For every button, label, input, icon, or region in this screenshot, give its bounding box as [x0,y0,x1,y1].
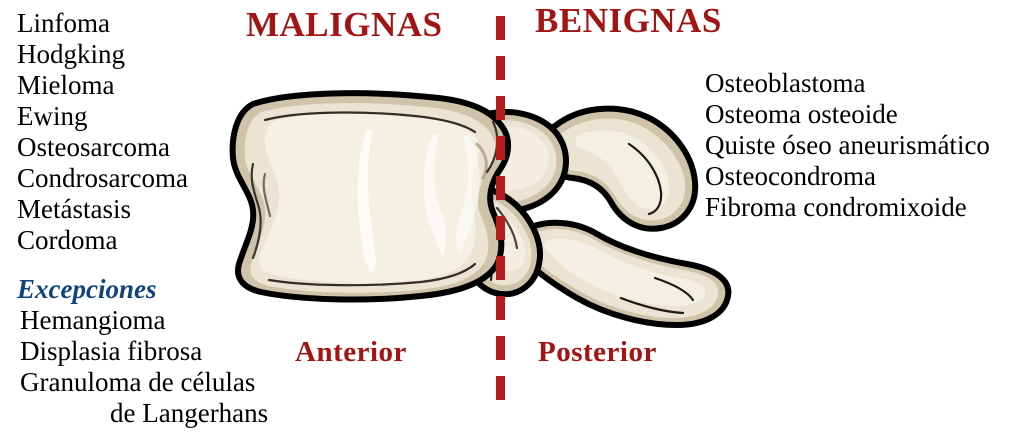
list-item: Granuloma de células [20,367,268,398]
label-posterior: Posterior [538,336,657,369]
list-item: Osteoma osteoide [705,99,990,130]
spinous-process [521,223,728,325]
benign-tumor-list: Osteoblastoma Osteoma osteoide Quiste ós… [705,68,990,223]
list-item: Osteocondroma [705,161,990,192]
list-item: Quiste óseo aneurismático [705,130,990,161]
list-item: Osteoblastoma [705,68,990,99]
dashed-separator-line [496,16,505,402]
exceptions-heading: Excepciones [17,274,156,305]
heading-malignas: MALIGNAS [246,5,443,45]
list-item: Displasia fibrosa [20,336,268,367]
list-item: Ewing [17,101,188,132]
label-anterior: Anterior [295,336,407,369]
list-item: Linfoma [17,8,188,39]
list-item: Cordoma [17,225,188,256]
figure-canvas: MALIGNAS BENIGNAS Anterior Posterior Lin… [0,0,1023,444]
list-item: Hodgking [17,39,188,70]
malignant-tumor-list: Linfoma Hodgking Mieloma Ewing Osteosarc… [17,8,188,256]
list-item: Fibroma condromixoide [705,192,990,223]
heading-benignas: BENIGNAS [535,1,722,41]
list-item: Osteosarcoma [17,132,188,163]
list-item: Condrosarcoma [17,163,188,194]
list-item: de Langerhans [20,398,268,429]
list-item: Mieloma [17,70,188,101]
vertebra-illustration: .bone-out { fill:#cfc3aa; stroke:#000; s… [225,82,745,332]
vertebral-body [233,93,508,299]
list-item: Metástasis [17,194,188,225]
